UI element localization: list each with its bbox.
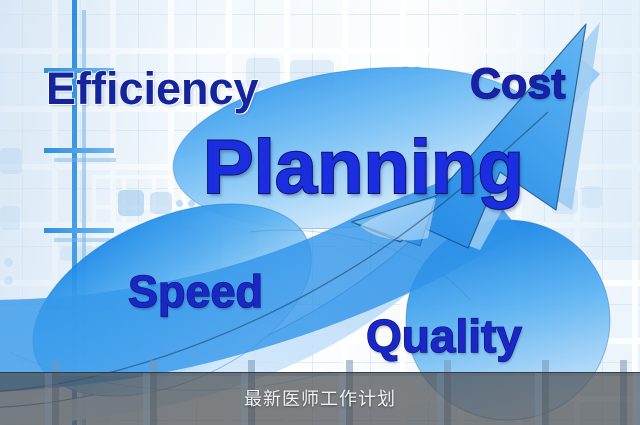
caption-text: 最新医师工作计划 (0, 385, 640, 411)
keyword-speed: Speed (128, 269, 263, 314)
keyword-quality: Quality (366, 313, 522, 359)
keyword-planning: Planning (203, 130, 524, 206)
caption-band: 最新医师工作计划 (0, 372, 640, 425)
keyword-cost: Cost (470, 63, 566, 106)
keyword-efficiency: Efficiency (46, 66, 259, 111)
image-canvas: Efficiency Planning Cost Speed Quality 最… (0, 0, 640, 425)
